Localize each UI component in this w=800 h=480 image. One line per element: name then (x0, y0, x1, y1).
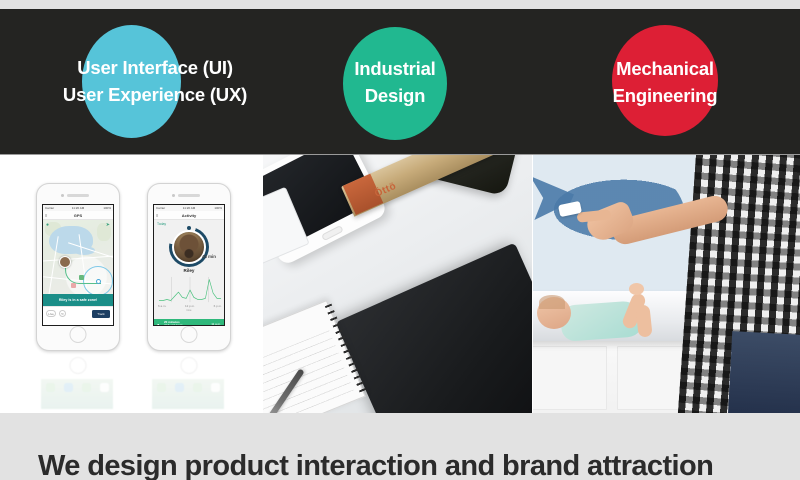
activity-ring (169, 227, 209, 267)
map-poi (71, 283, 76, 288)
ui-ux-label: User Interface (UI) User Experience (UX) (55, 55, 255, 109)
active-minutes: 46 min (202, 254, 216, 259)
today-label: Today (157, 222, 166, 226)
safari-app-icon (64, 383, 73, 392)
industrial-design-label-line2: Design (335, 83, 455, 110)
dresser-drawer (533, 346, 607, 410)
music-app-icon (211, 383, 220, 392)
mechanical-engineering-label-line2: Engineering (575, 83, 755, 110)
activity-row-walk[interactable]: ● 20 minutes Walk with Emily 11 a.m. (154, 319, 224, 326)
page-root: User Interface (UI) User Experience (UX)… (0, 0, 800, 480)
track-button[interactable]: Track (92, 310, 110, 318)
gps-nav-bar: ≡ GPS (43, 211, 113, 220)
menu-icon[interactable]: ≡ (156, 213, 158, 218)
axis-tick-0: 6 a.m. (158, 304, 166, 308)
camera-icon (61, 194, 64, 197)
messages-app-icon (82, 383, 91, 392)
safari-app-icon (175, 383, 184, 392)
status-time: 11:20 AM (72, 206, 84, 210)
messages-app-icon (193, 383, 202, 392)
gps-phone-screen: Carrier 11:20 AM 100% ≡ GPS (42, 204, 114, 326)
gallery-panel-industrial-design[interactable]: Öttö (263, 155, 532, 413)
pet-avatar-pin[interactable] (59, 256, 71, 268)
live-chip[interactable]: Live (46, 310, 56, 317)
reflected-home-button (70, 357, 87, 374)
location-pin-icon[interactable]: ● (46, 222, 49, 228)
gps-title: GPS (74, 213, 82, 218)
activity-chart-svg (158, 276, 222, 304)
home-button[interactable] (181, 326, 198, 343)
desk-photo: Öttö (263, 155, 532, 413)
activity-title: Activity (182, 213, 196, 218)
phone-app-icon (46, 383, 55, 392)
discipline-band: User Interface (UI) User Experience (UX)… (0, 9, 800, 155)
phone-mockup-activity: Carrier 11:20 AM 100% ≡ Activity Today (147, 183, 231, 351)
walk-icon: ● (157, 322, 159, 327)
status-battery: 100% (214, 206, 222, 210)
status-time: 11:20 AM (183, 206, 195, 210)
pet-photo-avatar (174, 232, 204, 262)
status-carrier: Carrier (45, 206, 54, 210)
refresh-icon[interactable]: ↻ (59, 310, 66, 317)
gallery-panel-ui-ux[interactable]: Carrier 11:20 AM 100% ≡ GPS (0, 155, 262, 413)
navigate-icon[interactable]: ➤ (106, 222, 110, 228)
map-poi (79, 275, 84, 280)
pet-name: Riley (184, 268, 195, 273)
baby-foot (629, 283, 644, 295)
mechanical-engineering-label: Mechanical Engineering (575, 56, 755, 110)
industrial-design-label: Industrial Design (335, 56, 455, 110)
ui-ux-label-line2: User Experience (UX) (55, 82, 255, 109)
industrial-design-label-line1: Industrial (335, 56, 455, 83)
current-location-dot (96, 279, 101, 284)
reflected-home-button (181, 357, 198, 374)
axis-tick-1: 12 p.m. (185, 304, 195, 308)
axis-tick-2: 6 p.m. (214, 304, 222, 308)
music-app-icon (100, 383, 109, 392)
footer-headline: We design product interaction and brand … (38, 450, 713, 480)
menu-icon[interactable]: ≡ (45, 213, 47, 218)
home-button[interactable] (70, 326, 87, 343)
camera-icon (172, 194, 175, 197)
speaker-grill (67, 194, 89, 197)
nursery-photo (533, 155, 800, 413)
activity-title: Walk with Emily (164, 324, 183, 326)
activity-time: 11 a.m. (211, 322, 221, 326)
phone-app-icon (157, 383, 166, 392)
chart-axis-unit: time (187, 309, 192, 312)
otto-logo: Öttö (373, 181, 398, 200)
activity-nav-bar: ≡ Activity (154, 211, 224, 220)
top-strip (0, 0, 800, 9)
activity-body: Today 46 min Riley (154, 220, 224, 319)
status-battery: 100% (103, 206, 111, 210)
activity-phone-screen: Carrier 11:20 AM 100% ≡ Activity Today (153, 204, 225, 326)
activity-line-chart (158, 276, 222, 304)
footer-area: We design product interaction and brand … (0, 413, 800, 480)
speaker-grill (178, 194, 200, 197)
gallery-panel-mechanical-engineering[interactable] (533, 155, 800, 413)
phone-reflection (147, 353, 231, 409)
baby-hair (539, 295, 565, 309)
mechanical-engineering-label-line1: Mechanical (575, 56, 755, 83)
map-toolbar[interactable]: Live ↻ Track (43, 306, 113, 319)
ui-ux-label-line1: User Interface (UI) (55, 55, 255, 82)
gallery-row: Carrier 11:20 AM 100% ≡ GPS (0, 155, 800, 413)
reflected-dock (41, 379, 113, 396)
reflected-dock (152, 379, 224, 396)
phone-reflection (36, 353, 120, 409)
phone-mockup-gps: Carrier 11:20 AM 100% ≡ GPS (36, 183, 120, 351)
jeans (728, 331, 800, 413)
safe-zone-banner: Riley is in a safe zone! (43, 294, 113, 306)
status-carrier: Carrier (156, 206, 165, 210)
ring-end-cap (187, 226, 191, 230)
chart-axis-labels: 6 a.m. 12 p.m. 6 p.m. (158, 304, 222, 308)
map-view[interactable]: ● ➤ Riley is in a safe zone! (43, 220, 113, 306)
